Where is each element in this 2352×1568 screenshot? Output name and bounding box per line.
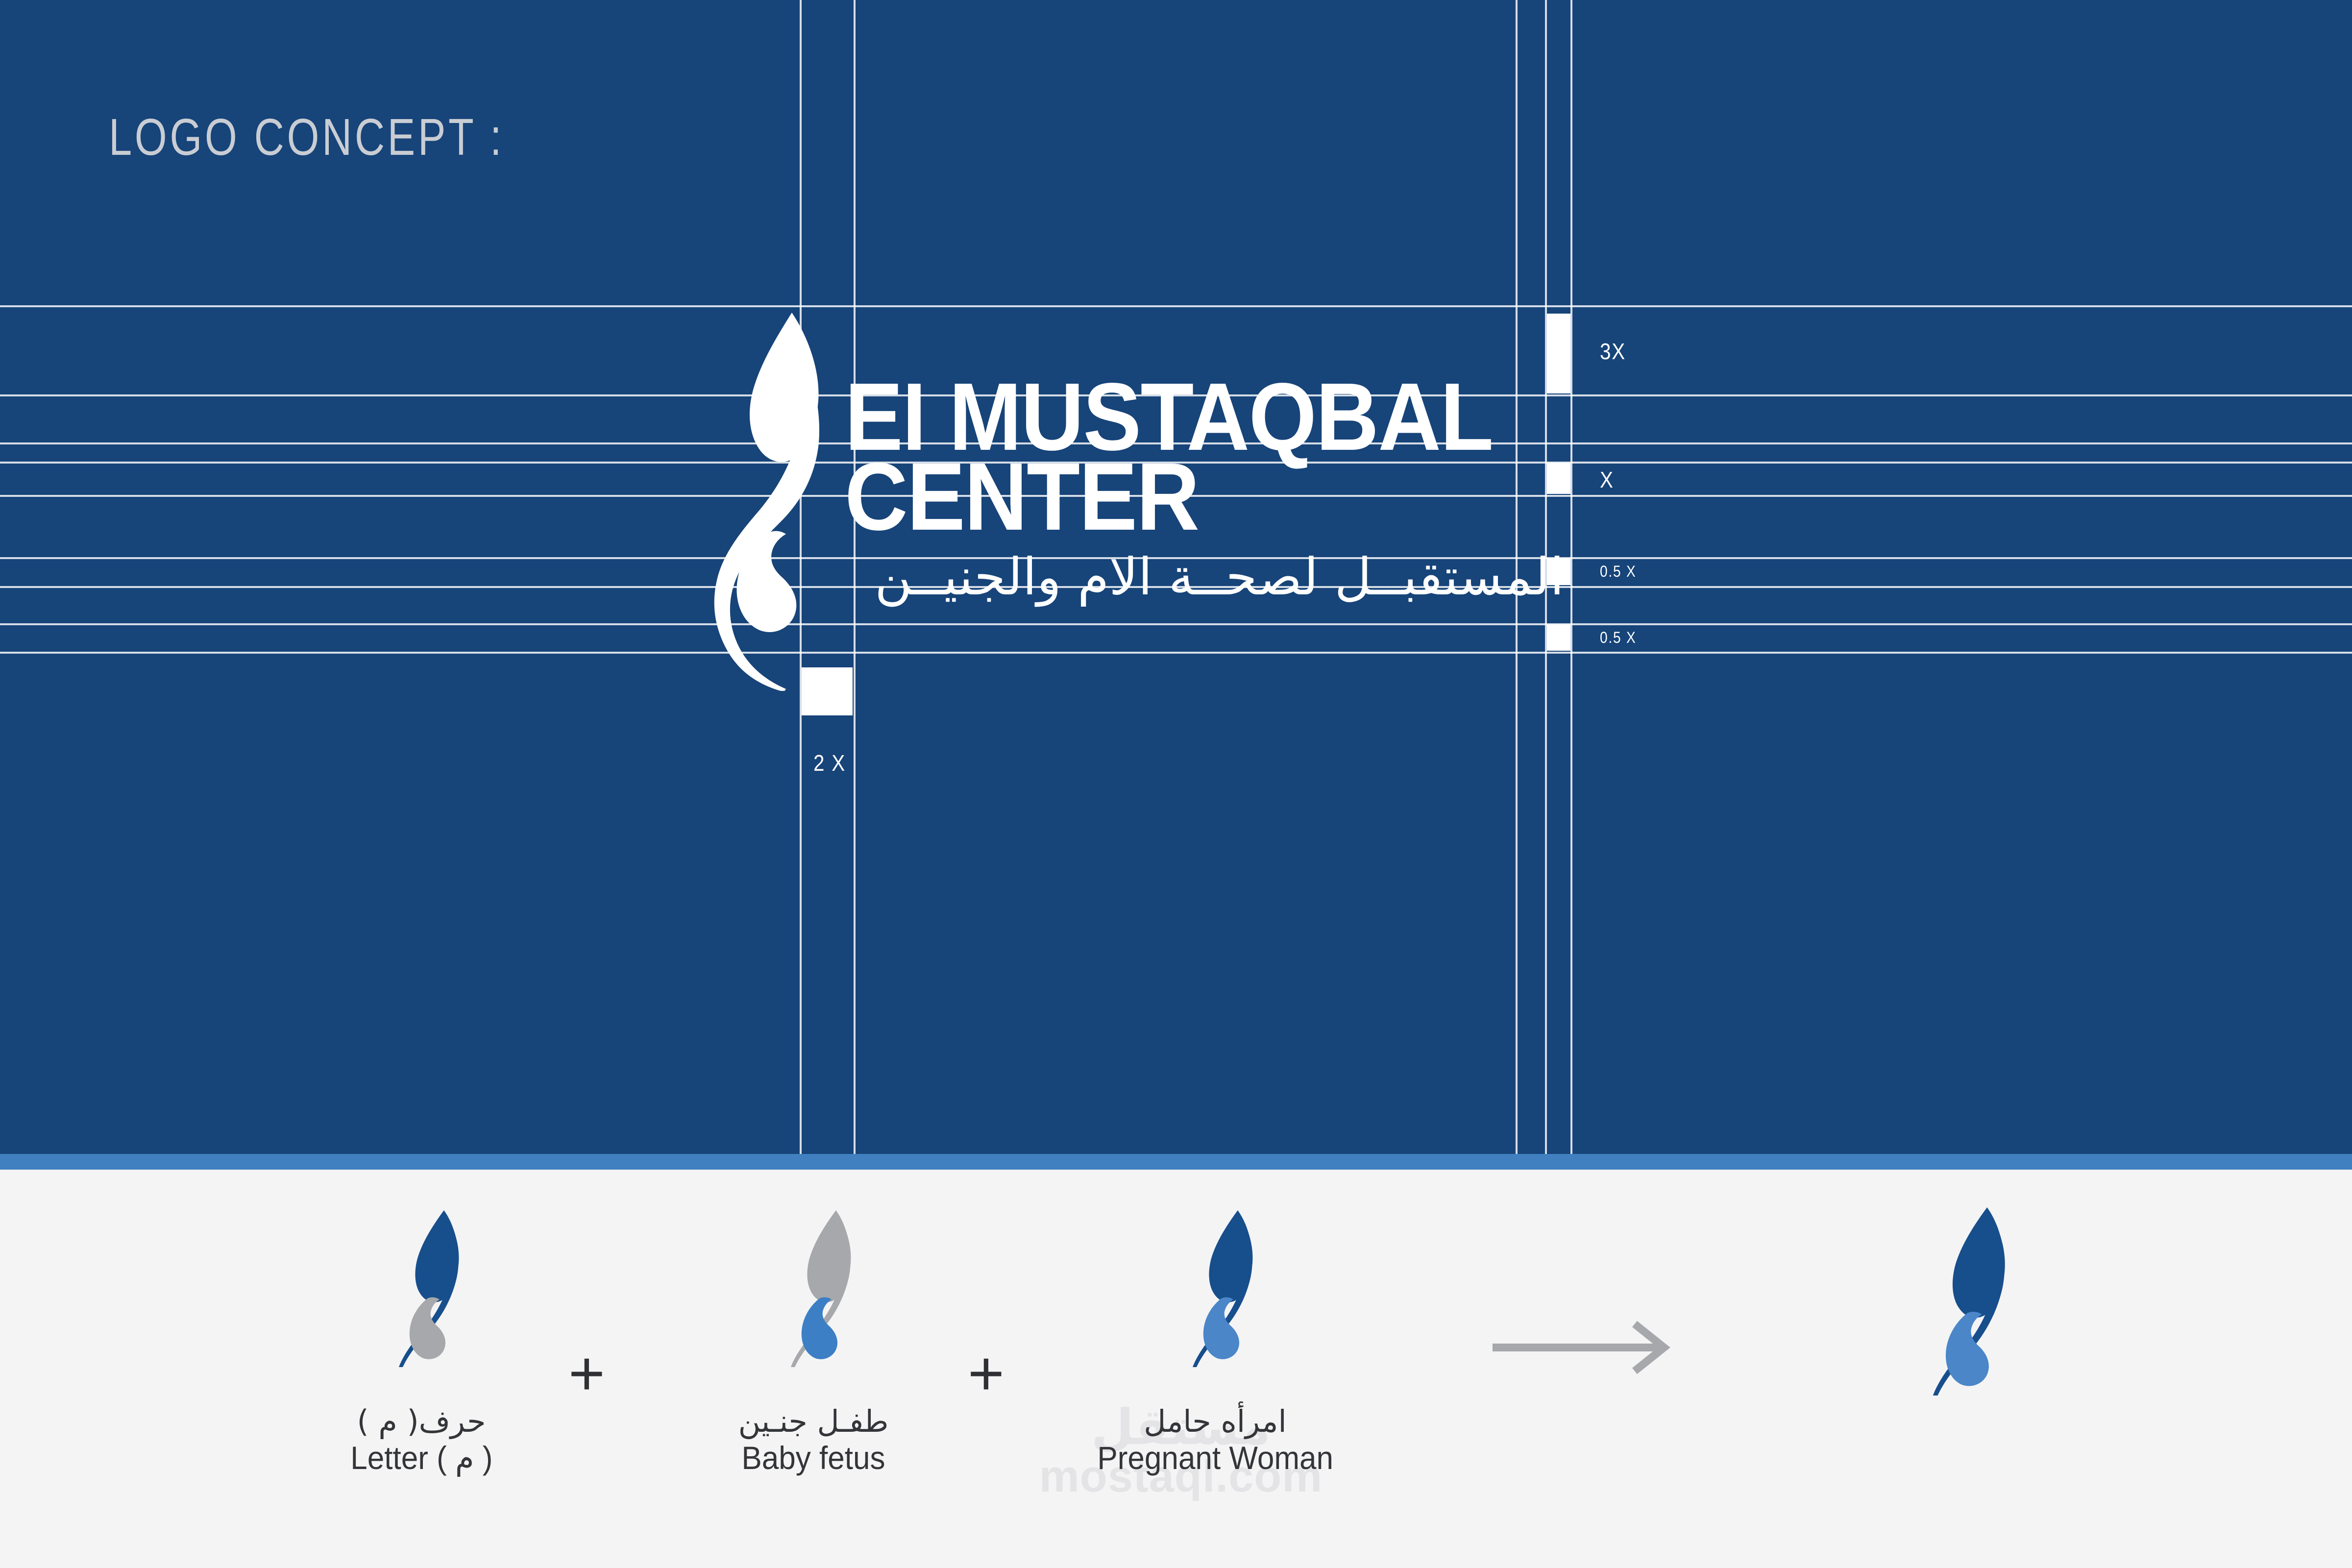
blueprint-panel: LOGO CONCEPT : EI MUSTAQBAL CENTER المست… xyxy=(0,0,2352,1154)
measure-block-half-x-upper xyxy=(1547,558,1570,585)
measure-block-x xyxy=(1547,463,1570,494)
concept-item-letter: حرف( م ) Letter ( م ) xyxy=(265,1205,578,1477)
measure-block-half-x-lower xyxy=(1547,624,1570,651)
measure-label-3x: 3X xyxy=(1600,338,1626,365)
concept-labels: امرأه حامل Pregnant Woman xyxy=(1090,1403,1341,1477)
measure-block-2x xyxy=(802,667,853,715)
letter-meem-mark xyxy=(372,1205,470,1367)
concept-label-en: Baby fetus xyxy=(741,1439,885,1477)
concept-item-pregnant-woman: امرأه حامل Pregnant Woman xyxy=(1058,1205,1372,1477)
measure-label-x: X xyxy=(1600,466,1614,493)
page-title: LOGO CONCEPT : xyxy=(109,108,504,167)
concept-label-en: Pregnant Woman xyxy=(1097,1439,1333,1477)
concept-labels: طفـل جنـين Baby fetus xyxy=(737,1403,890,1477)
concept-label-ar: امرأه حامل xyxy=(1090,1403,1341,1439)
grid-line-vertical xyxy=(1570,0,1572,1154)
measure-label-half-x-lower: 0.5 X xyxy=(1600,629,1637,647)
measure-label-2x: 2 X xyxy=(813,750,846,776)
concept-label-en: Letter ( م ) xyxy=(350,1439,492,1477)
arrow-right-icon xyxy=(1490,1318,1686,1377)
concept-labels: حرف( م ) Letter ( م ) xyxy=(346,1403,497,1477)
concept-label-ar: طفـل جنـين xyxy=(737,1403,890,1439)
section-divider xyxy=(0,1154,2352,1170)
pregnant-woman-flame-mark xyxy=(688,304,830,691)
baby-fetus-mark xyxy=(764,1205,862,1367)
plus-operator-2: + xyxy=(968,1343,1004,1405)
logo-presentation-canvas: LOGO CONCEPT : EI MUSTAQBAL CENTER المست… xyxy=(0,0,2352,1568)
pregnant-woman-mark xyxy=(1166,1205,1264,1367)
wordmark-line-2: CENTER xyxy=(845,457,1496,537)
logo-lockup: EI MUSTAQBAL CENTER المستقبــل لصحــة ال… xyxy=(688,304,1570,691)
measure-label-half-x-upper: 0.5 X xyxy=(1600,563,1637,581)
concept-label-ar: حرف( م ) xyxy=(346,1403,497,1439)
final-combined-logo-mark xyxy=(1901,1200,2019,1396)
plus-operator-1: + xyxy=(568,1343,605,1405)
arabic-tagline: المستقبــل لصحــة الام والجنيــن xyxy=(844,551,1564,602)
wordmark: EI MUSTAQBAL CENTER xyxy=(845,377,1560,537)
concept-item-fetus: طفـل جنـين Baby fetus xyxy=(657,1205,970,1477)
measure-block-3x xyxy=(1547,314,1570,393)
